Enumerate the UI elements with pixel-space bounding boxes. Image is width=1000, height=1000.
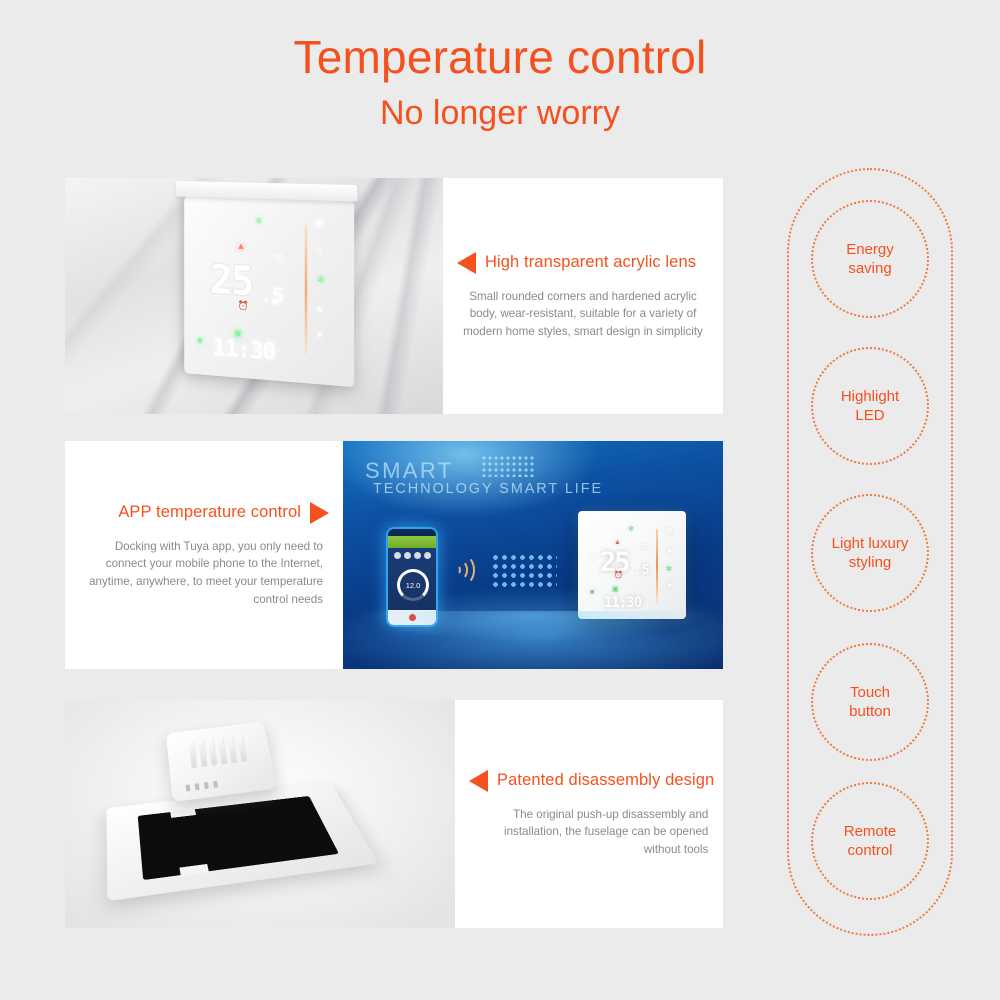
feature-text-acrylic-lens: High transparent acrylic lens Small roun…: [443, 178, 723, 414]
feature-headline: APP temperature control: [118, 503, 301, 522]
feature-panel-disassembly: Patented disassembly design The original…: [65, 700, 723, 928]
power-icon: ■: [197, 335, 202, 345]
page-subtitle: No longer worry: [0, 95, 1000, 132]
feature-image-smart-scene: SMART TECHNOLOGY SMART LIFE 12.0 25: [343, 441, 723, 669]
lock-icon: ▢: [196, 265, 204, 276]
scene-thermostat-slider-bar: [656, 529, 658, 603]
feature-headline-row: APP temperature control: [79, 502, 329, 524]
feature-headline: High transparent acrylic lens: [485, 253, 696, 272]
scene-thermostat-clock: 11:30: [604, 595, 641, 611]
sidebar-bubble-touch-button: Touch button: [811, 643, 929, 761]
sidebar-bubble-label: Highlight LED: [841, 387, 899, 426]
scene-lock-icon: ▢: [589, 553, 596, 561]
sidebar-bubble-light-luxury-styling: Light luxury styling: [811, 494, 929, 612]
feature-panel-acrylic-lens: 25 .5 °C 11:30 ❄ ▲ ▢ ▦ ⏱ ✻ ▲ ▼ ⏰ ◉ ▣ ■ H…: [65, 178, 723, 414]
phone-earpiece: [388, 529, 436, 536]
feature-headline-row: Patented disassembly design: [469, 770, 714, 792]
phone-app-icon: [394, 552, 401, 559]
sidebar-bubble-label: Light luxury styling: [832, 534, 909, 573]
plate-cavity: [138, 796, 339, 880]
sidebar-bubble-remote-control: Remote control: [811, 782, 929, 900]
triangle-left-icon: [469, 770, 488, 792]
thermostat-device: 25 .5 °C 11:30 ❄ ▲ ▢ ▦ ⏱ ✻ ▲ ▼ ⏰ ◉ ▣ ■: [184, 196, 354, 387]
flame-icon: ▲: [237, 241, 246, 251]
page-header: Temperature control No longer worry: [0, 0, 1000, 132]
phone-dial-value: 12.0: [400, 581, 426, 590]
terminal-slots: [185, 781, 218, 792]
feature-panel-app-control: SMART TECHNOLOGY SMART LIFE 12.0 25: [65, 441, 723, 669]
thermostat-temperature: 25: [210, 257, 253, 305]
feature-headline-row: High transparent acrylic lens: [457, 252, 709, 274]
thermostat-slider-bar: [304, 225, 307, 355]
mode-icon: ▣: [234, 328, 242, 339]
feature-text-app-control: APP temperature control Docking with Tuy…: [65, 441, 343, 669]
feature-body: Docking with Tuya app, you only need to …: [79, 538, 329, 608]
feature-body: The original push-up disassembly and ins…: [469, 806, 714, 859]
dot-matrix-decoration: [481, 455, 535, 477]
scene-brand-line-2: TECHNOLOGY SMART LIFE: [373, 481, 603, 497]
sidebar-bubble-energy-saving: Energy saving: [811, 200, 929, 318]
timer-icon: ⏰: [238, 300, 249, 312]
wifi-icon: ◉: [271, 296, 279, 307]
feature-headline: Patented disassembly design: [497, 771, 714, 790]
scene-mode-icon: ▣: [612, 585, 619, 593]
scene-chevron-down-icon: ▼: [666, 583, 673, 590]
phone-temperature-dial: 12.0: [397, 569, 429, 601]
sidebar-bubble-label: Touch button: [849, 683, 891, 722]
feature-body: Small rounded corners and hardened acryl…: [457, 288, 709, 341]
thermostat-device-scene: 25 .5 °C 11:30 ❄ ▲ ▢ ▦ ▲ ✻ ▼ ⏰ ▣ ■: [578, 511, 686, 619]
scene-thermostat-unit: °C: [640, 544, 648, 551]
page-title: Temperature control: [0, 33, 1000, 83]
leaf-mode-icon: ✻: [317, 274, 325, 286]
leaf-icon: ❄: [255, 216, 262, 227]
sidebar-bubble-highlight-led: Highlight LED: [811, 347, 929, 465]
calendar-icon: ▦: [315, 218, 324, 229]
phone-app-icon-row: [388, 548, 436, 561]
scene-timer-icon: ⏰: [614, 571, 623, 579]
scene-calendar-icon: ▦: [666, 527, 673, 535]
chevron-down-icon: ▼: [315, 329, 324, 340]
heatsink-fins: [188, 735, 246, 768]
feature-text-disassembly: Patented disassembly design The original…: [455, 700, 723, 928]
feature-image-marble-thermostat: 25 .5 °C 11:30 ❄ ▲ ▢ ▦ ⏱ ✻ ▲ ▼ ⏰ ◉ ▣ ■: [65, 178, 443, 414]
scene-power-icon: ■: [590, 589, 594, 596]
sidebar-bubble-label: Energy saving: [846, 240, 894, 279]
phone-app-icon: [424, 552, 431, 559]
triangle-right-icon: [310, 502, 329, 524]
floor-glow: [343, 611, 723, 669]
thermostat-inner-module: [166, 722, 278, 803]
triangle-left-icon: [457, 252, 476, 274]
thermostat-clock: 11:30: [213, 335, 276, 365]
chevron-up-icon: ▲: [315, 303, 324, 314]
clock-icon: ⏱: [315, 246, 322, 257]
phone-app-icon: [404, 552, 411, 559]
scene-chevron-up-icon: ▲: [666, 547, 673, 554]
scene-leaf-mode-icon: ✻: [666, 565, 672, 573]
signal-dot-trail: [491, 553, 557, 587]
scene-thermostat-decimal: .5: [634, 563, 650, 578]
wifi-signal-icon: [453, 553, 481, 587]
phone-app-header: [388, 536, 436, 548]
scene-flame-icon: ▲: [614, 539, 621, 546]
feature-image-backplate: [65, 700, 455, 928]
sidebar-bubble-label: Remote control: [844, 822, 897, 861]
thermostat-unit: °C: [273, 253, 284, 265]
scene-leaf-icon: ❄: [628, 525, 634, 533]
phone-app-icon: [414, 552, 421, 559]
